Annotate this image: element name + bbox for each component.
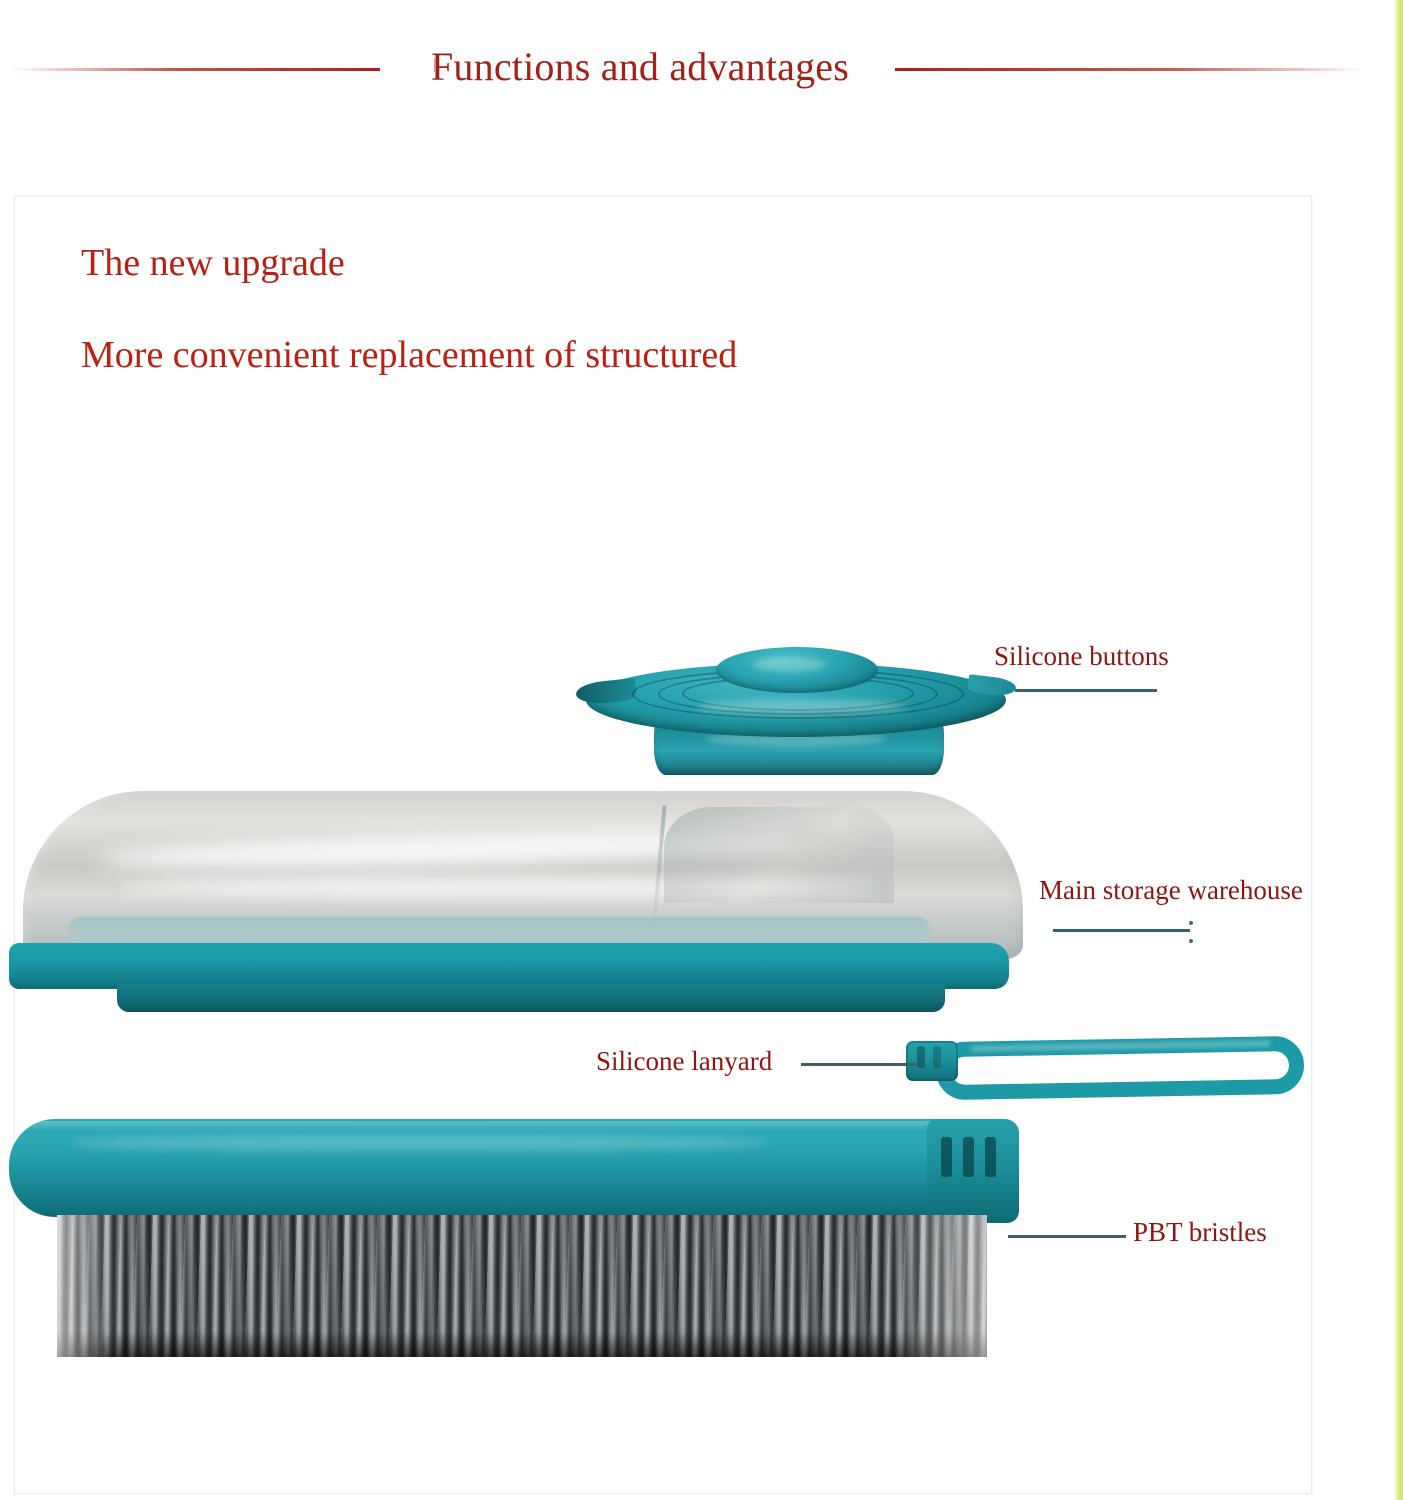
callout-label-silicone-lanyard: Silicone lanyard [596, 1048, 772, 1075]
callout-label-pbt-bristles: PBT bristles [1133, 1219, 1267, 1246]
intro-heading-secondary: More convenient replacement of structure… [81, 335, 1081, 377]
infographic-page: Functions and advantages The new upgrade… [0, 0, 1403, 1500]
leader-dot-lower [1189, 939, 1193, 943]
leader-line-silicone-buttons [1015, 689, 1157, 692]
brush-body-part [9, 1119, 1029, 1369]
pbt-bristles-field [57, 1215, 987, 1357]
dome-teal-base [9, 943, 1009, 989]
lanyard-clip-slot-1 [917, 1046, 925, 1068]
header-rule-left [10, 68, 380, 71]
brush-body-top-edge [19, 1121, 999, 1131]
brush-tab-slot-3 [985, 1137, 996, 1177]
lanyard-clip [906, 1041, 958, 1081]
page-header: Functions and advantages [0, 26, 1393, 106]
brush-body-highlight [69, 1135, 769, 1151]
dome-foot [117, 984, 945, 1012]
lanyard-clip-slot-2 [933, 1046, 941, 1068]
callout-label-silicone-buttons: Silicone buttons [994, 643, 1169, 670]
leader-line-main-storage-warehouse [1053, 929, 1190, 932]
silicone-button-cap-part [576, 637, 1016, 777]
brush-tab-slot-2 [963, 1137, 974, 1177]
silicone-lanyard-part [906, 1037, 1306, 1101]
callout-label-main-storage-warehouse: Main storage warehouse [1039, 877, 1303, 904]
brush-teal-body [9, 1119, 1019, 1217]
cap-center-button [716, 647, 878, 693]
lanyard-loop [936, 1036, 1305, 1100]
header-rule-right [895, 68, 1365, 71]
page-title: Functions and advantages [385, 26, 895, 108]
cap-highlight [696, 699, 906, 715]
right-edge-accent-stripe [1393, 0, 1403, 1500]
dome-notch [664, 807, 894, 903]
leader-line-silicone-lanyard [801, 1063, 918, 1066]
brush-tab-slot-1 [941, 1137, 952, 1177]
content-panel: The new upgrade More convenient replacem… [14, 196, 1312, 1494]
intro-block: The new upgrade More convenient replacem… [81, 243, 1081, 377]
main-storage-dome-part [9, 791, 1039, 1019]
leader-line-pbt-bristles [1008, 1235, 1126, 1238]
intro-heading-primary: The new upgrade [81, 243, 1081, 285]
dome-inner-contents [69, 917, 929, 945]
leader-dot-upper [1189, 921, 1193, 925]
